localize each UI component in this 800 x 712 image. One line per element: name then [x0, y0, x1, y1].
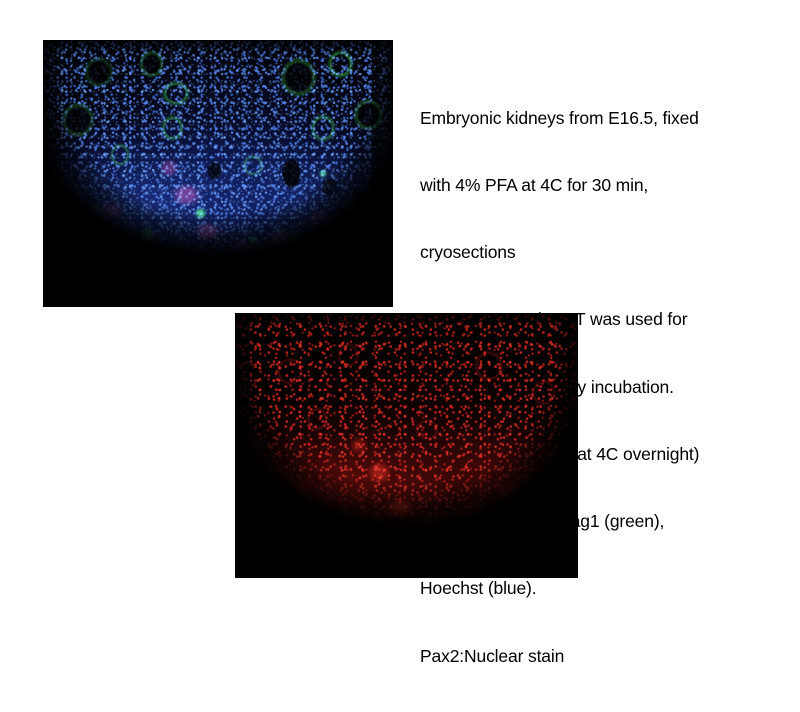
edge-vignette: [43, 40, 393, 307]
slide-canvas: Embryonic kidneys from E16.5, fixed with…: [0, 0, 800, 600]
pax2-red-channel-micrograph: [235, 313, 578, 578]
caption-line: Embryonic kidneys from E16.5, fixed: [420, 107, 750, 129]
merged-fluorescence-micrograph: [43, 40, 393, 307]
caption-line: Pax2:Nuclear stain: [420, 645, 750, 667]
caption-line: Hoechst (blue).: [420, 577, 750, 599]
caption-line: with 4% PFA at 4C for 30 min,: [420, 174, 750, 196]
caption-line: cryosections: [420, 241, 750, 263]
edge-vignette: [235, 313, 578, 578]
